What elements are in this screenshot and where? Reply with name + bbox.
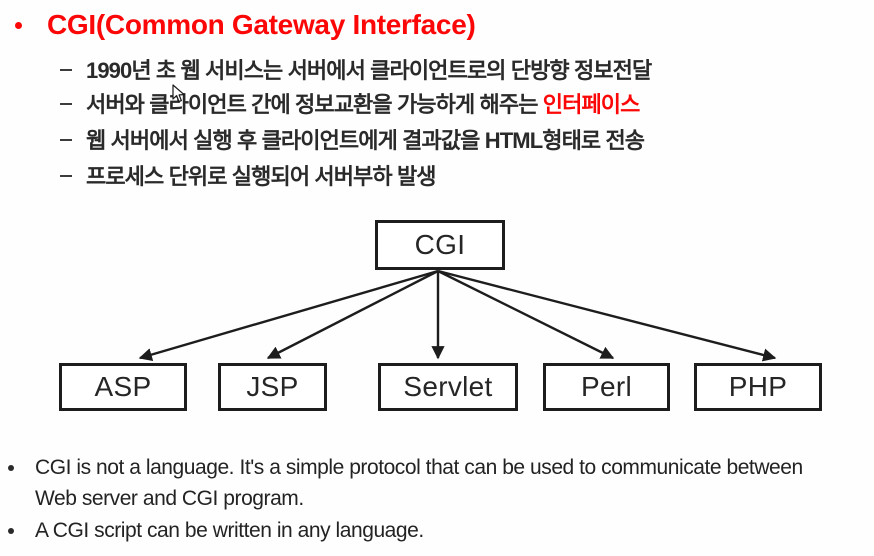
diagram-node-php[interactable]: PHP xyxy=(694,363,822,411)
note-2: A CGI script can be written in any langu… xyxy=(8,515,868,546)
sub-point-1: 1990년 초 웹 서비스는 서버에서 클라이언트로의 단방향 정보전달 xyxy=(60,54,874,84)
round-bullet-icon xyxy=(15,22,22,29)
diagram-node-php-label: PHP xyxy=(729,371,787,403)
diagram-node-perl-label: Perl xyxy=(581,371,632,403)
diagram-arrow-asp xyxy=(140,271,438,358)
dash-marker-icon xyxy=(60,139,72,141)
sub-point-2-plain: 서버와 클라이언트 간에 정보교환을 가능하게 해주는 xyxy=(86,92,543,117)
diagram-node-servlet[interactable]: Servlet xyxy=(378,363,518,411)
page-title: CGI(Common Gateway Interface) xyxy=(47,9,476,41)
dash-marker-icon xyxy=(60,103,72,105)
dash-marker-icon xyxy=(60,69,72,71)
title-bullet-row: CGI(Common Gateway Interface) xyxy=(12,6,862,44)
diagram-node-servlet-label: Servlet xyxy=(403,371,492,403)
cgi-architecture-diagram: CGI ASP JSP Servlet Perl PHP xyxy=(0,210,874,425)
diagram-node-jsp[interactable]: JSP xyxy=(218,363,327,411)
sub-point-3: 웹 서버에서 실행 후 클라이언트에게 결과값을 HTML형태로 전송 xyxy=(60,124,874,154)
diagram-node-cgi-label: CGI xyxy=(415,229,466,261)
sub-point-4-label: 프로세스 단위로 실행되어 서버부하 발생 xyxy=(86,159,436,191)
sub-point-2-label: 서버와 클라이언트 간에 정보교환을 가능하게 해주는 인터페이스 xyxy=(86,87,639,119)
diagram-node-perl[interactable]: Perl xyxy=(543,363,670,411)
diagram-node-jsp-label: JSP xyxy=(246,371,298,403)
mouse-pointer-icon xyxy=(172,84,186,104)
diagram-node-cgi[interactable]: CGI xyxy=(375,220,505,270)
sub-point-4: 프로세스 단위로 실행되어 서버부하 발생 xyxy=(60,160,874,190)
diagram-node-asp-label: ASP xyxy=(95,371,152,403)
sub-point-3-label: 웹 서버에서 실행 후 클라이언트에게 결과값을 HTML형태로 전송 xyxy=(86,123,644,155)
slide-canvas: CGI(Common Gateway Interface) 1990년 초 웹 … xyxy=(0,0,874,556)
diagram-arrow-jsp xyxy=(268,271,438,358)
note-2-label: A CGI script can be written in any langu… xyxy=(35,515,424,546)
round-bullet-icon xyxy=(8,465,14,471)
round-bullet-icon xyxy=(8,528,14,534)
diagram-arrow-perl xyxy=(438,271,613,358)
note-1: CGI is not a language. It's a simple pro… xyxy=(8,452,868,514)
diagram-node-asp[interactable]: ASP xyxy=(59,363,187,411)
sub-point-1-label: 1990년 초 웹 서비스는 서버에서 클라이언트로의 단방향 정보전달 xyxy=(86,53,651,85)
diagram-arrow-php xyxy=(438,271,775,358)
note-1-label: CGI is not a language. It's a simple pro… xyxy=(35,452,835,514)
dash-marker-icon xyxy=(60,175,72,177)
sub-point-2-accent: 인터페이스 xyxy=(543,92,640,117)
